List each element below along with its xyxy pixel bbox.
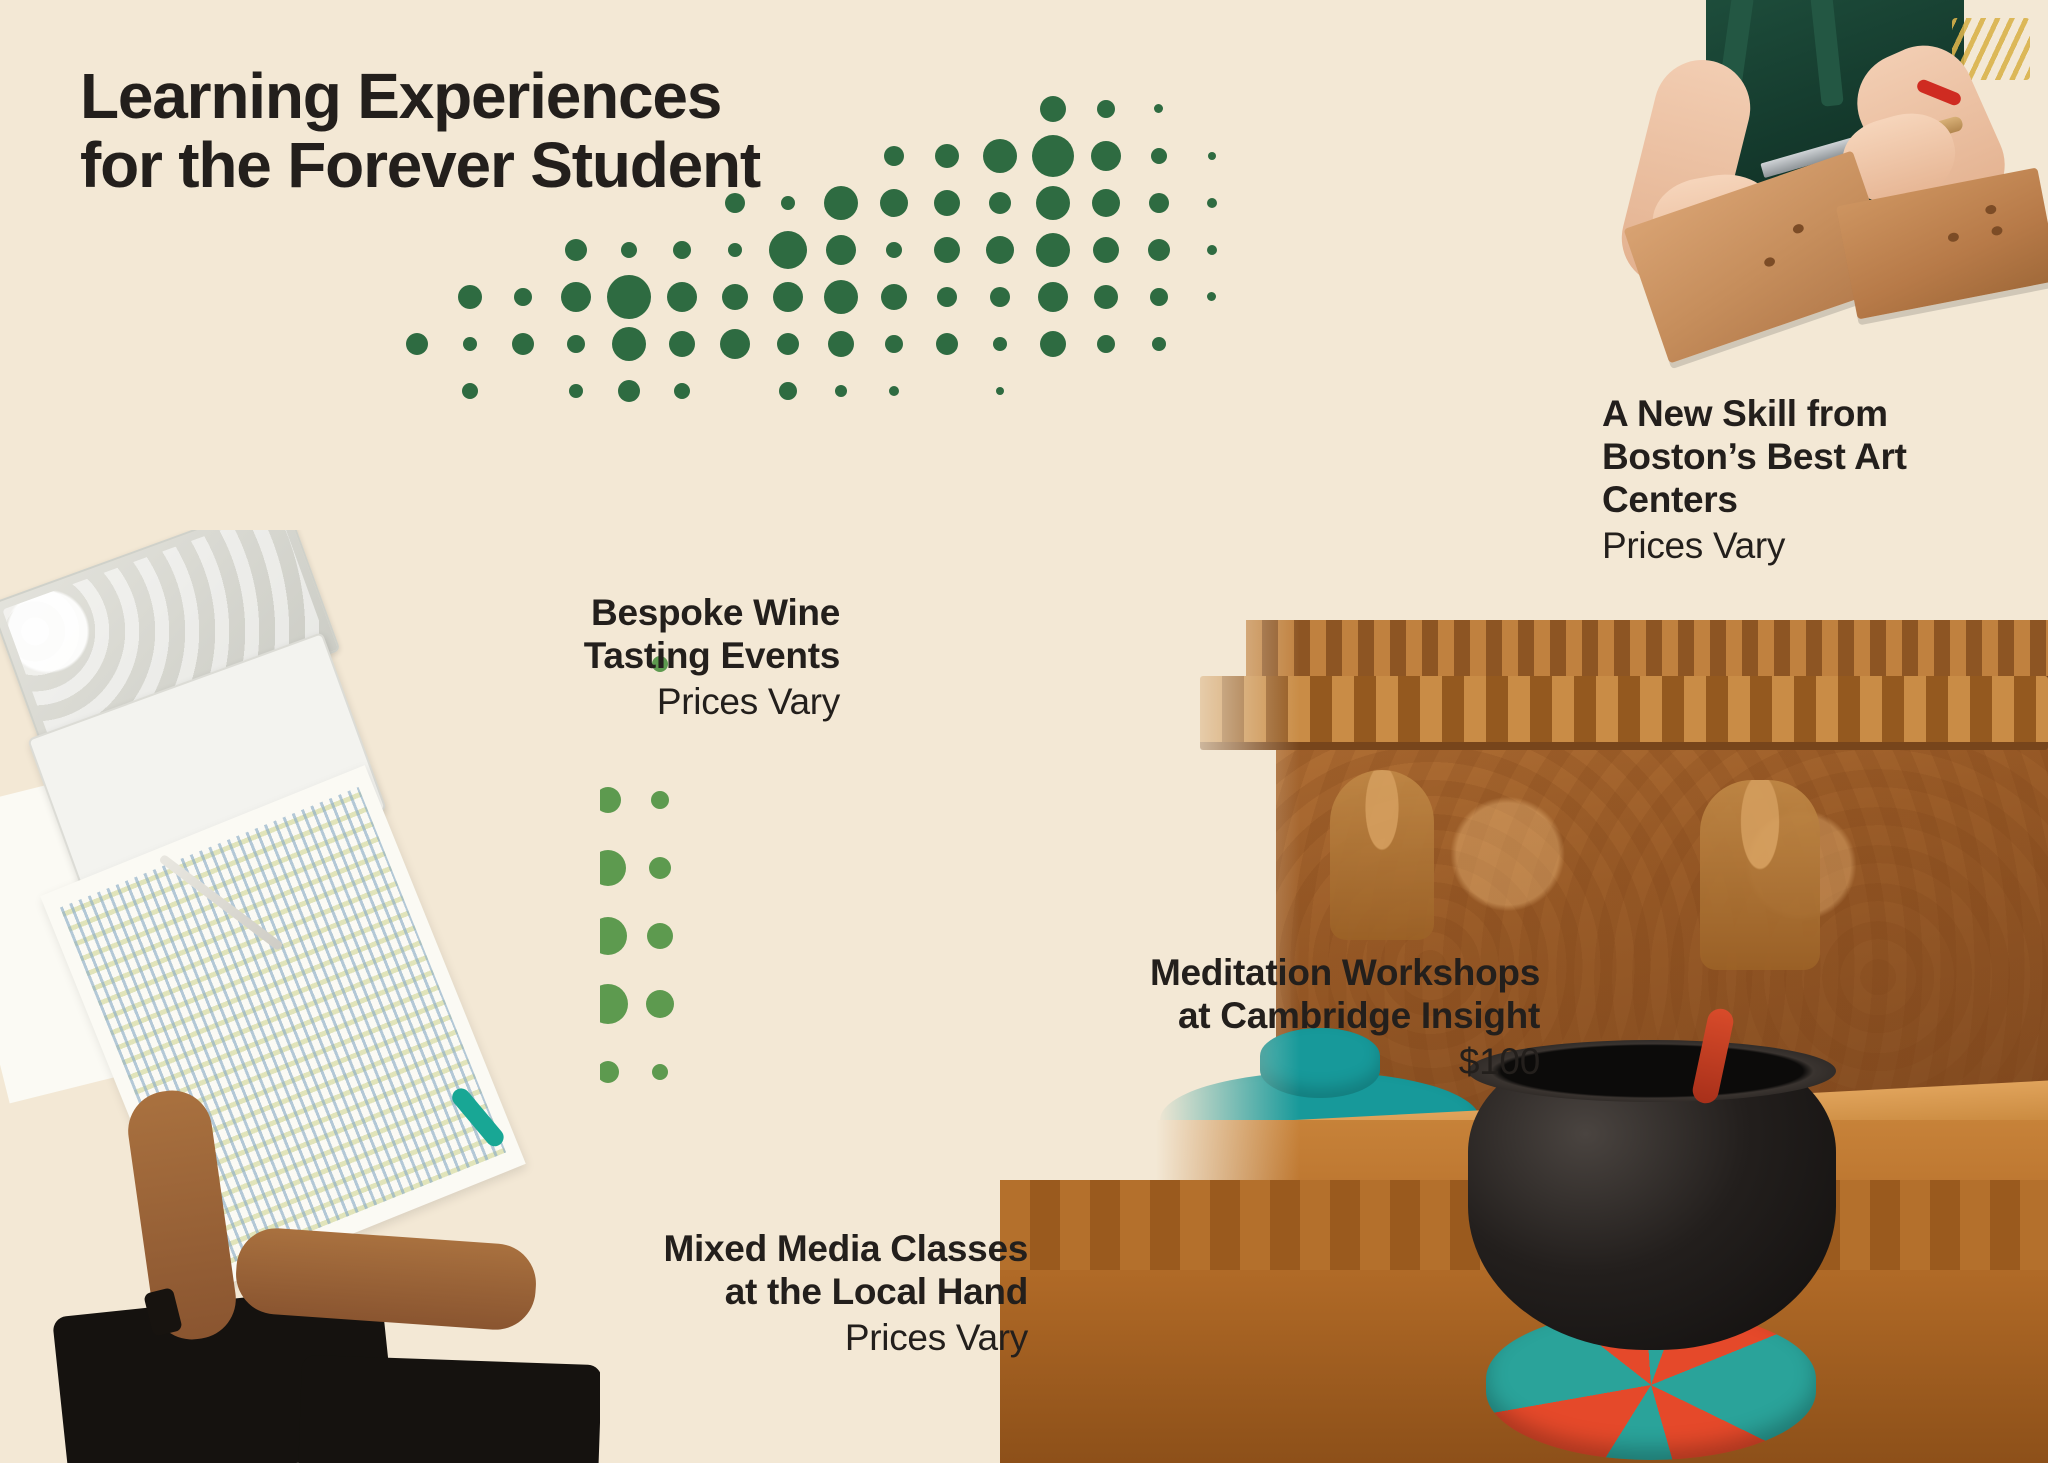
decorative-dot xyxy=(612,327,646,361)
decorative-dot xyxy=(567,335,585,353)
decorative-dot xyxy=(1091,141,1121,171)
decorative-dot xyxy=(773,282,803,312)
decorative-dot xyxy=(722,284,748,310)
decorative-dot xyxy=(1036,186,1070,220)
decorative-dot xyxy=(781,196,795,210)
listing-price: Prices Vary xyxy=(1602,524,2032,568)
listing-wine-tasting: Bespoke Wine Tasting Events Prices Vary xyxy=(300,592,840,724)
decorative-dot xyxy=(667,282,697,312)
decorative-dot xyxy=(824,280,858,314)
decorative-dot xyxy=(1207,245,1217,255)
listing-title: Mixed Media Classes at the Local Hand xyxy=(420,1228,1028,1314)
decorative-dot xyxy=(1040,331,1066,357)
decorative-dot xyxy=(779,382,797,400)
decorative-dot xyxy=(935,144,959,168)
decorative-dot xyxy=(885,335,903,353)
decorative-dot xyxy=(646,990,674,1018)
photo-woodworking xyxy=(1620,0,2048,372)
decorative-dot xyxy=(826,235,856,265)
decorative-dot xyxy=(597,1061,619,1083)
decorative-dot xyxy=(669,331,695,357)
decorative-dot xyxy=(1097,100,1115,118)
decorative-dot xyxy=(720,329,750,359)
decorative-dot xyxy=(990,287,1010,307)
decorative-dot xyxy=(1038,282,1068,312)
decorative-dot xyxy=(1036,233,1070,267)
decorative-dot xyxy=(934,237,960,263)
decorative-dot xyxy=(880,189,908,217)
listing-price: Prices Vary xyxy=(420,1316,1028,1360)
decorative-dot xyxy=(651,791,669,809)
decorative-dot xyxy=(512,333,534,355)
decorative-dot xyxy=(1040,96,1066,122)
decorative-dot xyxy=(881,284,907,310)
decorative-dot xyxy=(674,383,690,399)
decorative-dot xyxy=(647,923,673,949)
decorative-dot xyxy=(462,383,478,399)
listing-price: $100 xyxy=(760,1040,1540,1084)
listing-price: Prices Vary xyxy=(300,680,840,724)
decorative-dot xyxy=(565,239,587,261)
decorative-dot xyxy=(828,331,854,357)
listing-art-centers: A New Skill from Boston’s Best Art Cente… xyxy=(1602,393,2032,568)
decorative-dot xyxy=(1207,292,1216,301)
decorative-dot xyxy=(1093,237,1119,263)
decorative-dot xyxy=(1154,104,1163,113)
decorative-dot xyxy=(673,241,691,259)
decorative-dot xyxy=(989,192,1011,214)
poster-canvas: Learning Experiences for the Forever Stu… xyxy=(0,0,2048,1463)
decorative-dot xyxy=(886,242,902,258)
decorative-dot xyxy=(1151,148,1167,164)
decorative-dot xyxy=(1150,288,1168,306)
decorative-dot xyxy=(406,333,428,355)
decorative-dot xyxy=(1149,193,1169,213)
decorative-dot xyxy=(884,146,904,166)
page-title: Learning Experiences for the Forever Stu… xyxy=(80,62,760,200)
decorative-dot xyxy=(652,1064,668,1080)
decorative-dot xyxy=(835,385,847,397)
listing-title: A New Skill from Boston’s Best Art Cente… xyxy=(1602,393,2032,522)
decorative-dot xyxy=(569,384,583,398)
listing-mixed-media: Mixed Media Classes at the Local Hand Pr… xyxy=(420,1228,1028,1360)
decorative-dot xyxy=(769,231,807,269)
decorative-dot xyxy=(728,243,742,257)
decorative-dot xyxy=(1032,135,1074,177)
decorative-dot xyxy=(649,857,671,879)
decorative-dot xyxy=(1094,285,1118,309)
decorative-dot xyxy=(618,380,640,402)
decorative-dot xyxy=(777,333,799,355)
decorative-dot xyxy=(1207,198,1217,208)
decorative-dot xyxy=(621,242,637,258)
decorative-dot xyxy=(1208,152,1216,160)
decorative-dot xyxy=(607,275,651,319)
decorative-dot xyxy=(458,285,482,309)
decorative-dot xyxy=(1152,337,1166,351)
decorative-dot xyxy=(986,236,1014,264)
decorative-dot xyxy=(983,139,1017,173)
listing-title: Bespoke Wine Tasting Events xyxy=(300,592,840,678)
decorative-dot xyxy=(936,333,958,355)
decorative-dot xyxy=(889,386,899,396)
decorative-dot xyxy=(824,186,858,220)
decorative-dot xyxy=(993,337,1007,351)
decorative-dot xyxy=(934,190,960,216)
listing-meditation: Meditation Workshops at Cambridge Insigh… xyxy=(760,952,1540,1084)
decorative-dot xyxy=(514,288,532,306)
decorative-dot xyxy=(996,387,1004,395)
listing-title: Meditation Workshops at Cambridge Insigh… xyxy=(760,952,1540,1038)
decorative-dot xyxy=(937,287,957,307)
decorative-dot xyxy=(1097,335,1115,353)
decorative-dot xyxy=(1092,189,1120,217)
decorative-dot xyxy=(1148,239,1170,261)
decorative-dot xyxy=(561,282,591,312)
decorative-dot xyxy=(463,337,477,351)
